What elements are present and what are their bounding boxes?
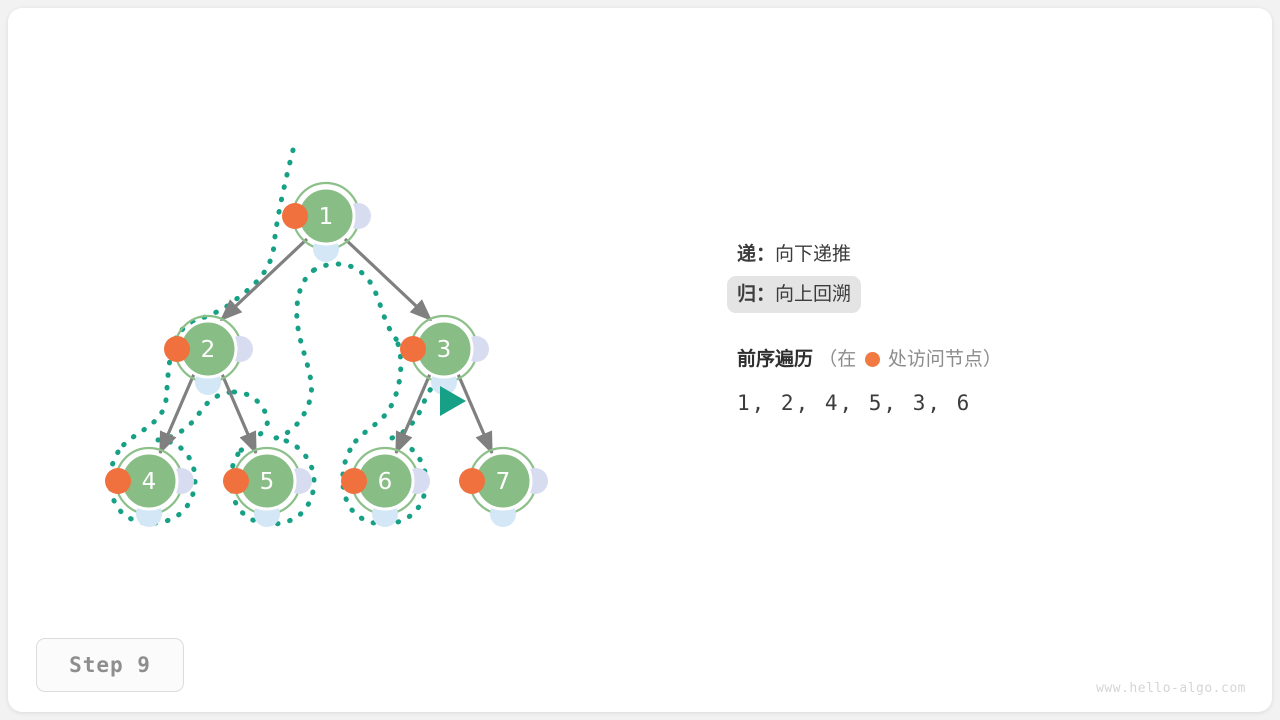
visit-dot-icon xyxy=(865,352,880,367)
step-badge: Step 9 xyxy=(36,638,184,692)
path-segment-n5-to-root xyxy=(276,270,314,438)
node-visit-dot xyxy=(164,336,190,362)
tree-node-6[interactable]: 6 xyxy=(341,448,430,527)
traversal-block: 前序遍历 （在 处访问节点） 1, 2, 4, 5, 3, 6 xyxy=(727,344,1247,415)
node-visit-dot xyxy=(282,203,308,229)
edge-n2-n4 xyxy=(160,374,194,453)
edge-n1-n3 xyxy=(345,239,431,320)
edge-n3-n7 xyxy=(458,374,492,453)
traversal-note-close: 处访问节点） xyxy=(888,349,1002,370)
traversal-note-open: （在 xyxy=(818,349,856,370)
node-visit-dot xyxy=(400,336,426,362)
traversal-name: 前序遍历 xyxy=(737,349,813,370)
node-visit-dot xyxy=(459,468,485,494)
watermark: www.hello-algo.com xyxy=(1096,681,1246,696)
node-visit-dot xyxy=(341,468,367,494)
legend-row-return: 归：向上回溯 xyxy=(727,276,1247,313)
diagram-card: 1234567 递：向下递推 归：向上回溯 前序遍历 （在 处访问节点） 1, … xyxy=(8,8,1272,712)
tree-node-2[interactable]: 2 xyxy=(164,316,253,395)
node-visit-dot xyxy=(105,468,131,494)
legend-return-label: 归 xyxy=(737,284,756,305)
path-segment-root-to-n2 xyxy=(176,150,293,338)
node-value-label: 1 xyxy=(319,204,334,230)
legend-recurse-text: 向下递推 xyxy=(775,244,851,265)
legend-return-sep: ： xyxy=(756,284,775,305)
tree-nodes: 1234567 xyxy=(105,183,548,527)
node-visit-dot xyxy=(223,468,249,494)
node-value-label: 4 xyxy=(142,469,157,495)
edge-n3-n6 xyxy=(396,374,430,453)
legend-row-recurse: 递：向下递推 xyxy=(727,236,1247,273)
edge-n2-n5 xyxy=(222,374,256,453)
legend-panel: 递：向下递推 归：向上回溯 前序遍历 （在 处访问节点） 1, 2, 4, 5,… xyxy=(727,236,1247,415)
legend-recurse: 递：向下递推 xyxy=(727,236,861,273)
node-value-label: 7 xyxy=(496,469,511,495)
legend-return-text: 向上回溯 xyxy=(775,284,851,305)
traversal-title: 前序遍历 （在 处访问节点） xyxy=(737,344,1247,371)
legend-recurse-sep: ： xyxy=(756,244,775,265)
tree-node-3[interactable]: 3 xyxy=(400,316,489,395)
edge-n1-n2 xyxy=(221,239,307,320)
tree-node-7[interactable]: 7 xyxy=(459,448,548,527)
legend-return: 归：向上回溯 xyxy=(727,276,861,313)
node-value-label: 6 xyxy=(378,469,393,495)
step-label: Step 9 xyxy=(69,653,151,677)
legend-recurse-label: 递 xyxy=(737,244,756,265)
node-value-label: 2 xyxy=(201,337,216,363)
node-value-label: 3 xyxy=(437,337,452,363)
traversal-sequence: 1, 2, 4, 5, 3, 6 xyxy=(737,391,1247,415)
node-value-label: 5 xyxy=(260,469,275,495)
path-segment-n3-to-n6 xyxy=(350,344,401,450)
